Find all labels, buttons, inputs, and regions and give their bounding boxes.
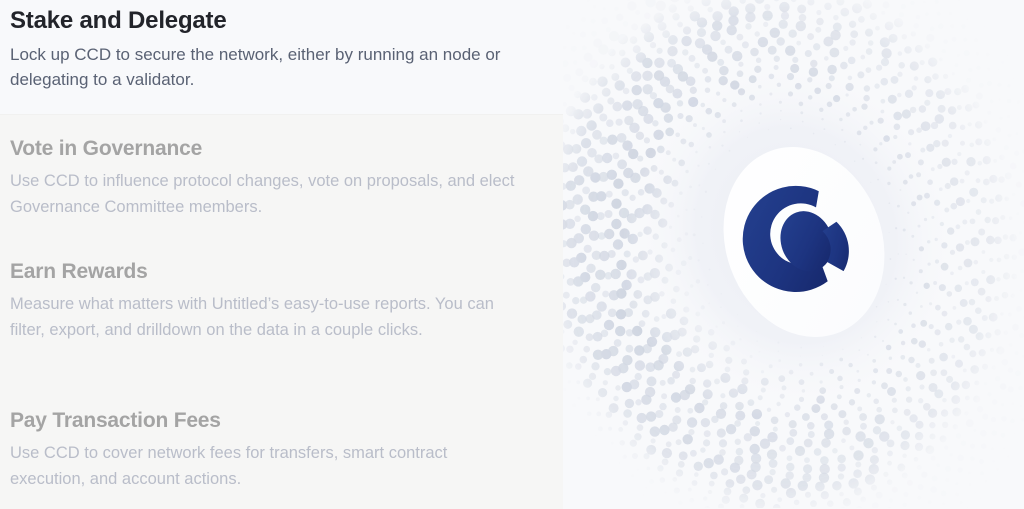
feature-item-stake-and-delegate[interactable]: Stake and Delegate Lock up CCD to secure… xyxy=(10,6,535,92)
feature-title: Earn Rewards xyxy=(10,259,535,285)
feature-title: Stake and Delegate xyxy=(10,6,535,36)
illustration-panel xyxy=(563,0,1024,508)
feature-list: Stake and Delegate Lock up CCD to secure… xyxy=(0,0,563,508)
concordium-logo-halftone-icon xyxy=(563,0,1024,508)
feature-description: Use CCD to influence protocol changes, v… xyxy=(10,168,522,220)
feature-item-vote-in-governance[interactable]: Vote in Governance Use CCD to influence … xyxy=(10,136,535,220)
feature-item-pay-transaction-fees[interactable]: Pay Transaction Fees Use CCD to cover ne… xyxy=(10,408,535,492)
feature-title: Vote in Governance xyxy=(10,136,535,162)
feature-title: Pay Transaction Fees xyxy=(10,408,535,434)
feature-description: Lock up CCD to secure the network, eithe… xyxy=(10,42,502,92)
feature-description: Use CCD to cover network fees for transf… xyxy=(10,440,460,492)
feature-description: Measure what matters with Untitled’s eas… xyxy=(10,291,515,343)
feature-item-earn-rewards[interactable]: Earn Rewards Measure what matters with U… xyxy=(10,259,535,343)
stake-and-delegate-screen: Stake and Delegate Lock up CCD to secure… xyxy=(0,0,1024,508)
